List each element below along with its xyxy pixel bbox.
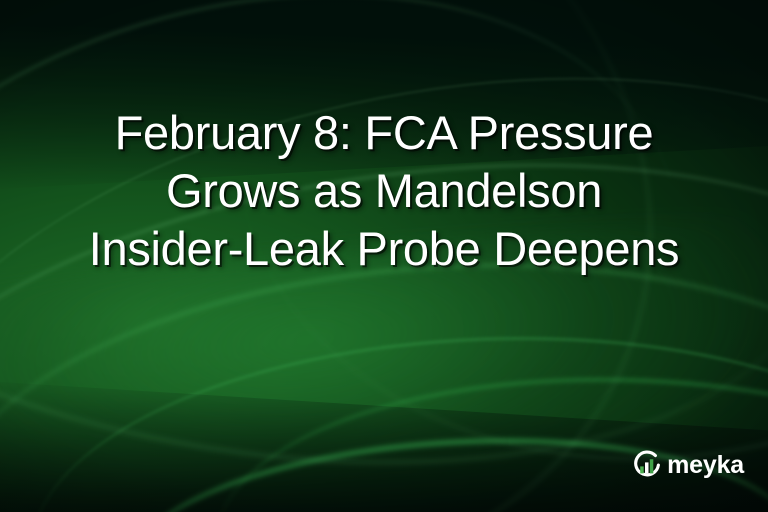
page-title: February 8: FCA Pressure Grows as Mandel… bbox=[89, 104, 680, 278]
brand-wordmark: meyka bbox=[667, 453, 744, 478]
news-headline-card: February 8: FCA Pressure Grows as Mandel… bbox=[0, 0, 768, 512]
headline-container: February 8: FCA Pressure Grows as Mandel… bbox=[0, 104, 768, 278]
brand-logo: meyka bbox=[630, 448, 744, 482]
meyka-bar-chart-ring-icon bbox=[630, 448, 664, 482]
